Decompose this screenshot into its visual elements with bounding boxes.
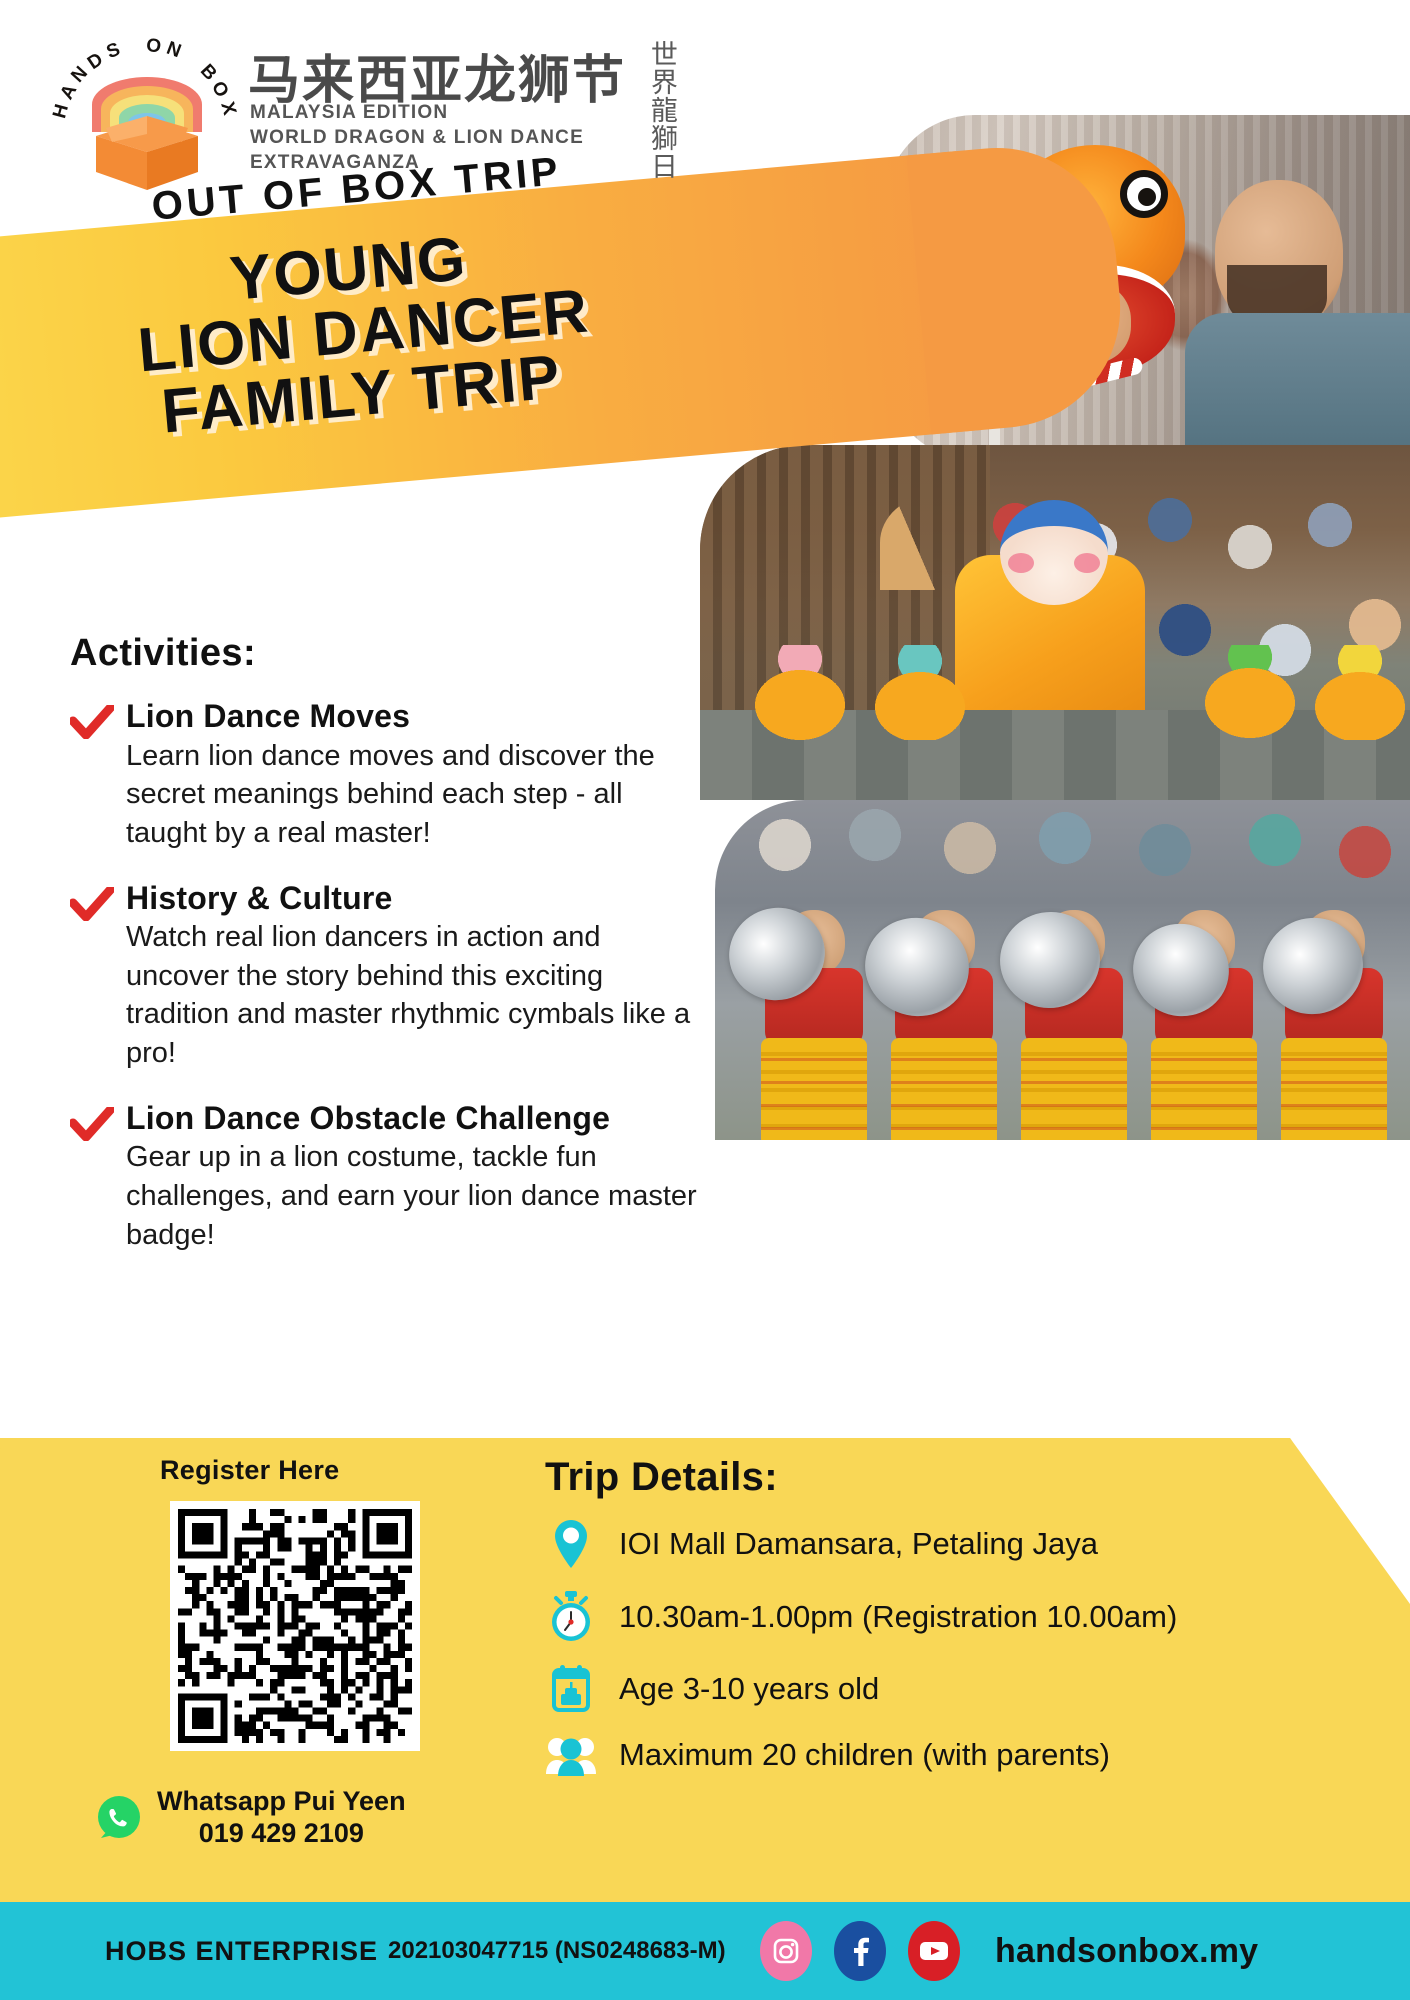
mask-cheek-left [1008, 553, 1034, 573]
instagram-icon[interactable] [760, 1921, 812, 1981]
open-box-icon [88, 114, 206, 190]
trip-icon-cell [545, 1518, 597, 1570]
hands-on-box-logo: HANDS ON BOX [50, 28, 240, 188]
activities-heading: Activities: [70, 632, 710, 675]
youtube-icon[interactable] [908, 1921, 960, 1981]
trip-icon-cell [545, 1664, 597, 1714]
poster-title: YOUNG LION DANCER FAMILY TRIP [118, 217, 598, 447]
festival-line-2: WORLD DRAGON & LION DANCE [250, 125, 584, 150]
activity-description: Learn lion dance moves and discover the … [126, 737, 710, 853]
footer-bar: HOBS ENTERPRISE 202103047715 (NS0248683-… [0, 1902, 1410, 2000]
whatsapp-number: 019 429 2109 [157, 1818, 406, 1850]
poster-root: OUT OF BOX TRIP YOUNG LION DANCER FAMILY… [0, 0, 1410, 2000]
activity-item: History & Culture Watch real lion dancer… [70, 881, 710, 1073]
check-icon [70, 705, 114, 739]
footer-company-name: HOBS ENTERPRISE [105, 1936, 378, 1967]
calendar-birthday-icon [550, 1664, 592, 1714]
check-icon [70, 1107, 114, 1141]
trip-detail-time: 10.30am-1.00pm (Registration 10.00am) [545, 1590, 1375, 1644]
whatsapp-name: Whatsapp Pui Yeen [157, 1786, 406, 1818]
trip-detail-capacity: Maximum 20 children (with parents) [545, 1734, 1375, 1776]
mask-cheek-right [1074, 553, 1100, 573]
people-group-icon [545, 1734, 597, 1776]
activity-title: Lion Dance Obstacle Challenge [126, 1101, 710, 1137]
stopwatch-icon [548, 1590, 594, 1644]
activity-item: Lion Dance Obstacle Challenge Gear up in… [70, 1101, 710, 1255]
festival-line-1: MALAYSIA EDITION [250, 100, 584, 125]
whatsapp-text-block: Whatsapp Pui Yeen 019 429 2109 [157, 1786, 406, 1850]
photo-kids-with-cymbals [715, 800, 1410, 1140]
festival-side-chinese: 世界龍獅日 [645, 40, 677, 180]
activity-title: History & Culture [126, 881, 710, 917]
activity-item: Lion Dance Moves Learn lion dance moves … [70, 699, 710, 853]
register-here-label: Register Here [160, 1455, 339, 1486]
festival-line-3: EXTRAVAGANZA [250, 150, 584, 175]
seated-children [730, 645, 1410, 740]
location-pin-icon [551, 1518, 591, 1570]
whatsapp-contact[interactable]: Whatsapp Pui Yeen 019 429 2109 [95, 1786, 406, 1850]
trip-detail-text: Age 3-10 years old [619, 1671, 879, 1707]
registration-qr-code[interactable] [170, 1501, 420, 1751]
trip-icon-cell [545, 1734, 597, 1776]
trip-detail-text: Maximum 20 children (with parents) [619, 1737, 1110, 1773]
adult-torso [1185, 313, 1410, 460]
footer-social-links [760, 1921, 960, 1981]
trip-detail-text: 10.30am-1.00pm (Registration 10.00am) [619, 1599, 1177, 1635]
photo-masked-dancer [700, 445, 1410, 800]
activity-description: Watch real lion dancers in action and un… [126, 918, 710, 1072]
trip-detail-location: IOI Mall Damansara, Petaling Jaya [545, 1518, 1375, 1570]
activity-description: Gear up in a lion costume, tackle fun ch… [126, 1138, 710, 1254]
festival-english-title: MALAYSIA EDITION WORLD DRAGON & LION DAN… [250, 100, 584, 175]
activities-section: Activities: Lion Dance Moves Learn lion … [70, 632, 710, 1282]
activity-title: Lion Dance Moves [126, 699, 710, 735]
facebook-icon[interactable] [834, 1921, 886, 1981]
footer-website[interactable]: handsonbox.my [995, 1932, 1258, 1971]
lion-eye-right [1120, 170, 1168, 218]
check-icon [70, 887, 114, 921]
footer-registration-number: 202103047715 (NS0248683-M) [388, 1937, 726, 1965]
trip-icon-cell [545, 1590, 597, 1644]
trip-detail-age: Age 3-10 years old [545, 1664, 1375, 1714]
trip-details-section: Trip Details: IOI Mall Damansara, Petali… [545, 1455, 1375, 1796]
whatsapp-icon[interactable] [95, 1794, 143, 1842]
trip-detail-text: IOI Mall Damansara, Petaling Jaya [619, 1526, 1098, 1562]
trip-details-heading: Trip Details: [545, 1455, 1375, 1500]
